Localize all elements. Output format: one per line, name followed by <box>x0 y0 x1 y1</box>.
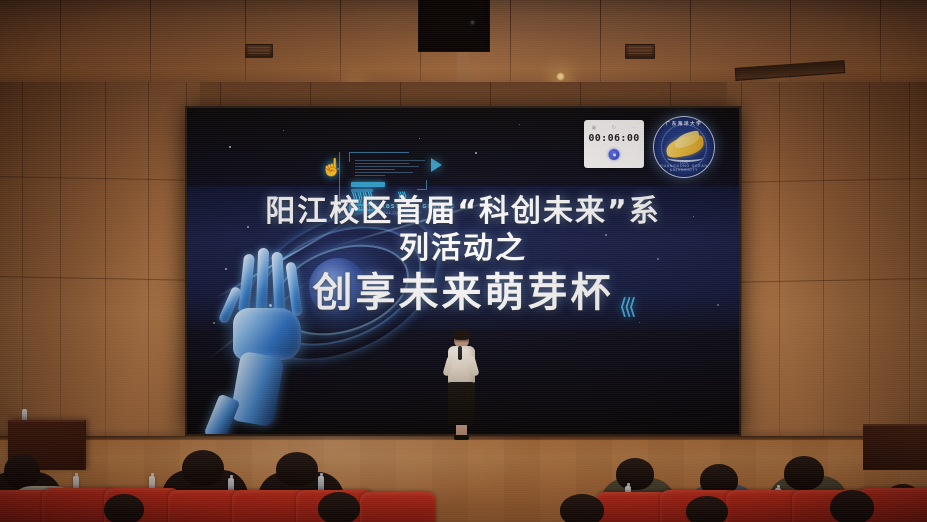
countdown-timer-widget[interactable]: ▣ ↻ ⋯ 00:06:00 <box>584 120 644 168</box>
downlight <box>556 72 565 81</box>
wall-panel-seam <box>670 82 671 108</box>
timer-value: 00:06:00 <box>584 133 644 144</box>
star <box>419 138 420 139</box>
logo-text-bottom: GUANGDONG OCEAN UNIVERSITY <box>654 164 714 172</box>
timer-icon-left[interactable]: ▣ <box>592 125 597 131</box>
audience-head <box>686 496 728 522</box>
audience-head <box>830 490 874 522</box>
audience-head <box>784 456 824 490</box>
wall-shading <box>727 82 927 454</box>
wall-right <box>727 82 927 454</box>
wall-left <box>0 82 200 454</box>
wall-panel-seam <box>400 82 401 108</box>
logo-text-top: 广东海洋大学 <box>654 121 714 127</box>
audience-head <box>318 492 360 522</box>
wall-panel-seam <box>580 82 581 108</box>
title-line-3: 创享未来萌芽杯 <box>187 269 739 318</box>
projection-booth-opening <box>418 0 490 52</box>
audience-head <box>104 494 144 522</box>
wall-panel-seam <box>310 82 311 108</box>
star <box>639 322 640 323</box>
wall-panel-seam <box>220 82 221 108</box>
timer-icon-right[interactable]: ⋯ <box>631 125 636 131</box>
audience-area <box>0 460 927 522</box>
star <box>519 124 520 125</box>
theater-seat <box>360 492 436 522</box>
university-logo: 广东海洋大学 1935 GUANGDONG OCEAN UNIVERSITY <box>653 116 715 178</box>
audience-head <box>182 450 224 486</box>
timer-icon-mid[interactable]: ↻ <box>612 125 616 131</box>
audience-head <box>4 454 40 488</box>
robot-wrist-joint <box>204 393 241 434</box>
hud-arrow-icon <box>431 158 442 172</box>
star <box>229 146 231 148</box>
ceiling-vent <box>625 44 655 59</box>
robot-forearm <box>229 351 284 428</box>
hud-corner <box>417 180 427 190</box>
booth-glint <box>471 21 474 24</box>
audience-head <box>276 452 318 486</box>
presenter <box>443 330 479 442</box>
hud-datalines <box>355 160 425 178</box>
timer-start-button[interactable] <box>609 149 620 160</box>
hud-bar <box>351 182 385 187</box>
title-line-2: 列活动之 <box>187 231 739 268</box>
timer-toolbar: ▣ ↻ ⋯ <box>584 123 644 132</box>
audience-head <box>616 458 654 490</box>
microphone-icon <box>458 346 462 360</box>
auditorium-scene: ☝ ⟫⟫⟫⟫ ⟫⟫ FUTURE ABSTRACT GRAPHIC 2021 T… <box>0 0 927 522</box>
star <box>475 152 477 154</box>
star <box>283 130 284 131</box>
ceiling-vent <box>245 44 273 58</box>
presenter-skirt <box>448 382 475 426</box>
screen-title-block: 阳江校区首届“科创未来”系 列活动之 创享未来萌芽杯 <box>187 194 739 318</box>
title-line-1: 阳江校区首届“科创未来”系 <box>187 194 739 231</box>
presenter-hair <box>453 329 470 340</box>
presenter-shoes <box>454 435 469 440</box>
wall-panel-seam <box>490 82 491 108</box>
back-wall <box>180 82 747 108</box>
wall-shading <box>0 82 200 454</box>
audience-head <box>560 494 604 522</box>
